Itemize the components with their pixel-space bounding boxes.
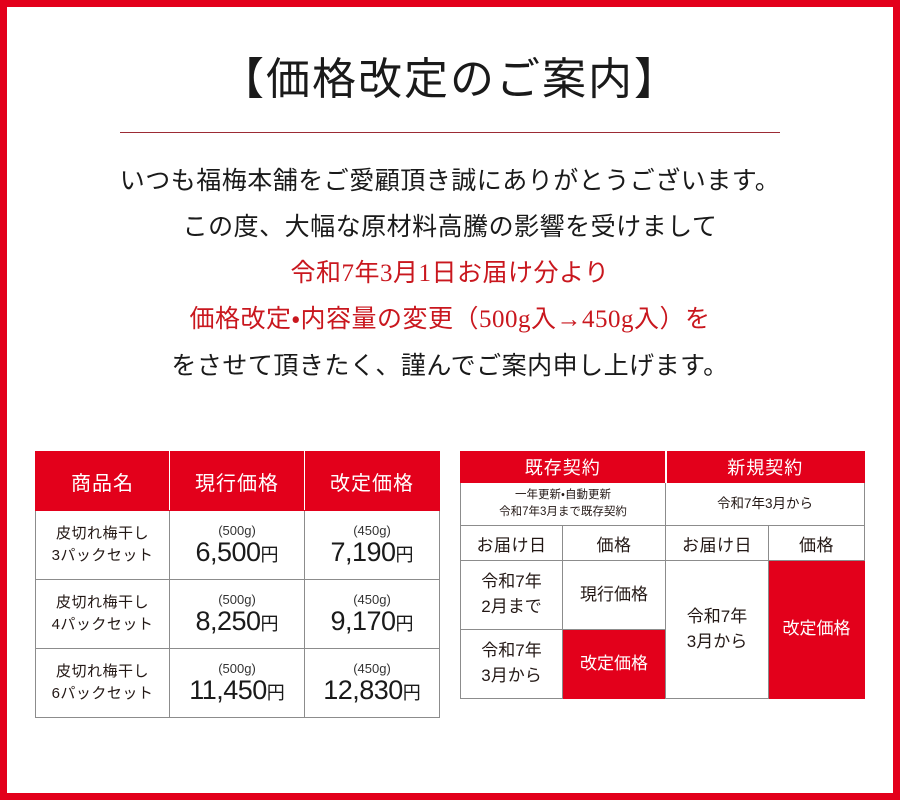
body-line-1: いつも福梅本舗をご愛顧頂き誠にありがとうございます。 [7, 159, 893, 205]
table-row: 皮切れ梅干し 4パックセット (500g) 8,250円 (450g) 9,17… [36, 580, 440, 649]
contract-schedule-table: 既存契約 新規契約 一年更新・自動更新 令和7年3月まで既存契約 令和7年3月か… [460, 451, 865, 699]
revised-amount: 7,190 [330, 537, 395, 567]
current-amount-wrap: 11,450円 [170, 677, 304, 704]
contract-subheader-row: お届け日 価格 お届け日 価格 [461, 526, 865, 561]
new-delivery-line2: 3月から [687, 632, 747, 651]
subheader-delivery-new: お届け日 [666, 526, 769, 561]
table-row: 皮切れ梅干し 6パックセット (500g) 11,450円 (450g) 12,… [36, 649, 440, 718]
price-header-revised: 改定価格 [305, 452, 440, 511]
revised-weight: (450g) [305, 662, 439, 675]
current-weight: (500g) [170, 593, 304, 606]
contract-top-header-row: 既存契約 新規契約 [461, 452, 865, 483]
contract-note-existing-line2: 令和7年3月まで既存契約 [499, 506, 627, 518]
existing-delivery-2-line1: 令和7年 [481, 641, 541, 660]
existing-delivery-1-line1: 令和7年 [481, 572, 541, 591]
revised-amount: 12,830 [323, 675, 403, 705]
existing-delivery-cell-2: 令和7年 3月から [461, 630, 563, 699]
current-amount: 6,500 [195, 537, 260, 567]
contract-note-existing: 一年更新・自動更新 令和7年3月まで既存契約 [461, 483, 666, 526]
product-name-line1: 皮切れ梅干し [56, 663, 149, 680]
current-weight: (500g) [170, 662, 304, 675]
revised-unit: 円 [396, 614, 414, 634]
revised-price-cell: (450g) 12,830円 [305, 649, 440, 718]
current-amount-wrap: 8,250円 [170, 608, 304, 635]
current-price-cell: (500g) 8,250円 [170, 580, 305, 649]
existing-delivery-cell-1: 令和7年 2月まで [461, 561, 563, 630]
current-amount: 11,450 [189, 675, 267, 705]
contract-header-new: 新規契約 [666, 452, 865, 483]
revised-unit: 円 [396, 545, 414, 565]
body-line-3: 令和7年3月1日お届け分より [7, 251, 893, 297]
current-amount-wrap: 6,500円 [170, 539, 304, 566]
revised-amount-wrap: 7,190円 [305, 539, 439, 566]
price-comparison-table: 商品名 現行価格 改定価格 皮切れ梅干し 3パックセット (500g) 6,50… [35, 451, 440, 718]
existing-delivery-1-line2: 2月まで [481, 597, 541, 616]
page-title: 【価格改定のご案内】 [7, 55, 893, 106]
notice-page: 【価格改定のご案内】 いつも福梅本舗をご愛顧頂き誠にありがとうございます。 この… [0, 0, 900, 800]
product-name-line2: 3パックセット [52, 547, 154, 564]
subheader-delivery-existing: お届け日 [461, 526, 563, 561]
product-name-cell: 皮切れ梅干し 6パックセット [36, 649, 170, 718]
current-unit: 円 [261, 545, 279, 565]
body-line-4: 価格改定・内容量の変更（500g入→450g入）を [7, 297, 893, 343]
contract-note-new: 令和7年3月から [666, 483, 865, 526]
current-amount: 8,250 [195, 606, 260, 636]
product-name-line1: 皮切れ梅干し [56, 594, 149, 611]
tables-row: 商品名 現行価格 改定価格 皮切れ梅干し 3パックセット (500g) 6,50… [7, 451, 893, 718]
price-header-product: 商品名 [36, 452, 170, 511]
product-name-line2: 4パックセット [52, 616, 154, 633]
existing-price-cell-1: 現行価格 [563, 561, 666, 630]
new-price-cell: 改定価格 [769, 561, 865, 699]
revised-weight: (450g) [305, 593, 439, 606]
contract-note-row: 一年更新・自動更新 令和7年3月まで既存契約 令和7年3月から [461, 483, 865, 526]
revised-amount: 9,170 [330, 606, 395, 636]
body-line-5: をさせて頂きたく、謹んでご案内申し上げます。 [7, 344, 893, 390]
revised-amount-wrap: 9,170円 [305, 608, 439, 635]
price-header-current: 現行価格 [170, 452, 305, 511]
revised-amount-wrap: 12,830円 [305, 677, 439, 704]
revised-unit: 円 [403, 683, 421, 703]
current-unit: 円 [261, 614, 279, 634]
table-row: 皮切れ梅干し 3パックセット (500g) 6,500円 (450g) 7,19… [36, 511, 440, 580]
title-divider [120, 132, 780, 133]
product-name-line2: 6パックセット [52, 685, 154, 702]
current-price-cell: (500g) 11,450円 [170, 649, 305, 718]
existing-price-cell-2: 改定価格 [563, 630, 666, 699]
current-weight: (500g) [170, 524, 304, 537]
new-delivery-line1: 令和7年 [687, 607, 747, 626]
table-row: 令和7年 2月まで 現行価格 令和7年 3月から 改定価格 [461, 561, 865, 630]
body-text-block: いつも福梅本舗をご愛顧頂き誠にありがとうございます。 この度、大幅な原材料高騰の… [7, 159, 893, 390]
contract-header-existing: 既存契約 [461, 452, 666, 483]
product-name-cell: 皮切れ梅干し 4パックセット [36, 580, 170, 649]
current-price-cell: (500g) 6,500円 [170, 511, 305, 580]
body-line-2: この度、大幅な原材料高騰の影響を受けまして [7, 205, 893, 251]
product-name-cell: 皮切れ梅干し 3パックセット [36, 511, 170, 580]
new-delivery-cell: 令和7年 3月から [666, 561, 769, 699]
revised-price-cell: (450g) 7,190円 [305, 511, 440, 580]
current-unit: 円 [267, 683, 285, 703]
subheader-price-existing: 価格 [563, 526, 666, 561]
product-name-line1: 皮切れ梅干し [56, 525, 149, 542]
revised-weight: (450g) [305, 524, 439, 537]
subheader-price-new: 価格 [769, 526, 865, 561]
title-block: 【価格改定のご案内】 [7, 7, 893, 133]
contract-note-existing-line1: 一年更新・自動更新 [515, 489, 611, 501]
price-table-header-row: 商品名 現行価格 改定価格 [36, 452, 440, 511]
revised-price-cell: (450g) 9,170円 [305, 580, 440, 649]
existing-delivery-2-line2: 3月から [481, 666, 541, 685]
